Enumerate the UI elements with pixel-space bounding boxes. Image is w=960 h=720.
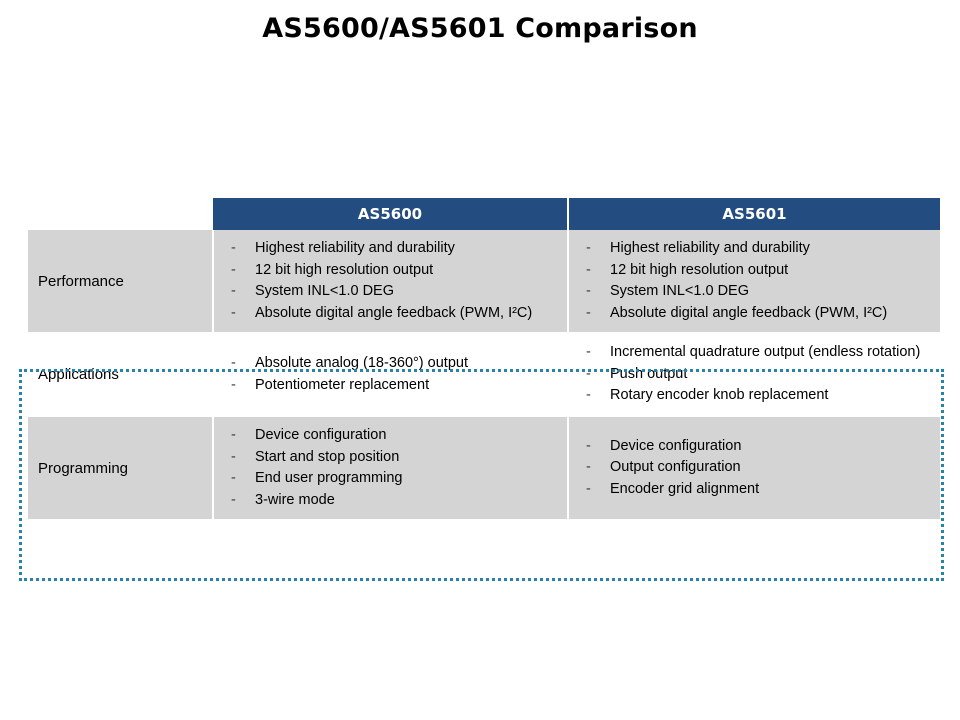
feature-list: Incremental quadrature output (endless r… xyxy=(577,342,936,406)
column-header-as5600: AS5600 xyxy=(213,198,568,230)
list-item: Absolute analog (18-360°) output xyxy=(222,353,563,374)
list-item: Incremental quadrature output (endless r… xyxy=(577,342,936,363)
column-header-blank xyxy=(28,198,213,230)
list-item: Start and stop position xyxy=(222,447,563,468)
row-label-programming: Programming xyxy=(28,416,213,519)
list-item: 12 bit high resolution output xyxy=(222,260,563,281)
list-item: Absolute digital angle feedback (PWM, I²… xyxy=(577,303,936,324)
row-label-performance: Performance xyxy=(28,230,213,333)
feature-list: Device configuration Output configuratio… xyxy=(577,436,936,500)
list-item: Encoder grid alignment xyxy=(577,479,936,500)
list-item: End user programming xyxy=(222,468,563,489)
table-header-row: AS5600 AS5601 xyxy=(28,198,940,230)
list-item: Rotary encoder knob replacement xyxy=(577,385,936,406)
table-row: Programming Device configuration Start a… xyxy=(28,416,940,519)
cell-performance-as5600: Highest reliability and durability 12 bi… xyxy=(213,230,568,333)
list-item: Highest reliability and durability xyxy=(222,238,563,259)
table-row: Applications Absolute analog (18-360°) o… xyxy=(28,333,940,416)
list-item: Device configuration xyxy=(222,425,563,446)
list-item: Output configuration xyxy=(577,457,936,478)
column-header-as5601: AS5601 xyxy=(568,198,940,230)
feature-list: Highest reliability and durability 12 bi… xyxy=(222,238,563,323)
cell-performance-as5601: Highest reliability and durability 12 bi… xyxy=(568,230,940,333)
cell-applications-as5600: Absolute analog (18-360°) output Potenti… xyxy=(213,333,568,416)
list-item: 12 bit high resolution output xyxy=(577,260,936,281)
list-item: System INL<1.0 DEG xyxy=(577,281,936,302)
list-item: Device configuration xyxy=(577,436,936,457)
list-item: Highest reliability and durability xyxy=(577,238,936,259)
cell-programming-as5600: Device configuration Start and stop posi… xyxy=(213,416,568,519)
table-body: Performance Highest reliability and dura… xyxy=(28,230,940,519)
row-label-applications: Applications xyxy=(28,333,213,416)
feature-list: Absolute analog (18-360°) output Potenti… xyxy=(222,353,563,395)
comparison-table: AS5600 AS5601 Performance Highest reliab… xyxy=(28,198,940,519)
list-item: Push output xyxy=(577,364,936,385)
cell-programming-as5601: Device configuration Output configuratio… xyxy=(568,416,940,519)
table-row: Performance Highest reliability and dura… xyxy=(28,230,940,333)
feature-list: Highest reliability and durability 12 bi… xyxy=(577,238,936,323)
page-title: AS5600/AS5601 Comparison xyxy=(0,13,960,44)
comparison-table-wrapper: AS5600 AS5601 Performance Highest reliab… xyxy=(28,198,940,519)
list-item: 3-wire mode xyxy=(222,490,563,511)
table-header: AS5600 AS5601 xyxy=(28,198,940,230)
cell-applications-as5601: Incremental quadrature output (endless r… xyxy=(568,333,940,416)
list-item: Absolute digital angle feedback (PWM, I²… xyxy=(222,303,563,324)
list-item: System INL<1.0 DEG xyxy=(222,281,563,302)
list-item: Potentiometer replacement xyxy=(222,375,563,396)
feature-list: Device configuration Start and stop posi… xyxy=(222,425,563,510)
